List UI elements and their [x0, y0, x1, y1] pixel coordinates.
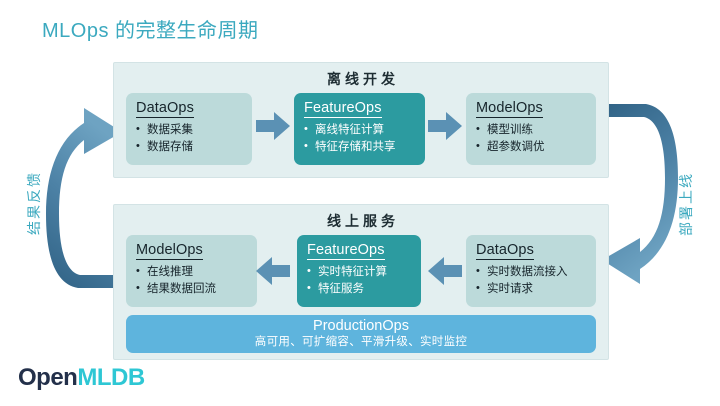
list-item: 实时数据流接入	[476, 264, 596, 281]
card-title: DataOps	[136, 99, 194, 118]
logo-text-open: Open	[18, 364, 77, 391]
list-item: 离线特征计算	[304, 122, 425, 139]
card-featureops-offline[interactable]: FeatureOps 离线特征计算 特征存储和共享	[294, 93, 425, 165]
side-label-feedback: 结果反馈	[24, 166, 44, 240]
list-item: 结果数据回流	[136, 281, 257, 298]
list-item: 超参数调优	[476, 139, 596, 156]
card-title: FeatureOps	[307, 241, 385, 260]
openmldb-logo: OpenMLDB	[18, 364, 145, 392]
card-title: ModelOps	[136, 241, 203, 260]
arrow-left-icon	[256, 256, 290, 286]
list-item: 在线推理	[136, 264, 257, 281]
side-label-deploy: 部署上线	[676, 167, 696, 241]
card-dataops-online[interactable]: DataOps 实时数据流接入 实时请求	[466, 235, 596, 307]
card-bullets: 数据采集 数据存储	[136, 122, 252, 156]
list-item: 特征服务	[307, 281, 421, 298]
card-featureops-online[interactable]: FeatureOps 实时特征计算 特征服务	[297, 235, 421, 307]
arrow-left-icon	[428, 256, 462, 286]
card-title: ModelOps	[476, 99, 543, 118]
list-item: 模型训练	[476, 122, 596, 139]
productionops-subtitle: 高可用、可扩缩容、平滑升级、实时监控	[255, 335, 467, 350]
online-service-panel: 线上服务 ModelOps 在线推理 结果数据回流 FeatureOps 实时特…	[113, 204, 609, 360]
card-bullets: 在线推理 结果数据回流	[136, 264, 257, 298]
arrow-right-icon	[428, 111, 462, 141]
logo-text-mldb: MLDB	[77, 364, 144, 391]
slide-canvas: MLOps 的完整生命周期 结果反馈 部署上线 离线开发 Dat	[0, 0, 720, 406]
arrow-right-icon	[256, 111, 290, 141]
online-panel-heading: 线上服务	[114, 211, 608, 231]
card-dataops-offline[interactable]: DataOps 数据采集 数据存储	[126, 93, 252, 165]
list-item: 特征存储和共享	[304, 139, 425, 156]
card-bullets: 离线特征计算 特征存储和共享	[304, 122, 425, 156]
card-bullets: 实时数据流接入 实时请求	[476, 264, 596, 298]
page-title: MLOps 的完整生命周期	[42, 14, 259, 43]
offline-development-panel: 离线开发 DataOps 数据采集 数据存储 FeatureOps 离线特征计算…	[113, 62, 609, 178]
list-item: 实时请求	[476, 281, 596, 298]
card-modelops-online[interactable]: ModelOps 在线推理 结果数据回流	[126, 235, 257, 307]
list-item: 数据采集	[136, 122, 252, 139]
card-productionops[interactable]: ProductionOps 高可用、可扩缩容、平滑升级、实时监控	[126, 315, 596, 353]
card-bullets: 实时特征计算 特征服务	[307, 264, 421, 298]
card-modelops-offline[interactable]: ModelOps 模型训练 超参数调优	[466, 93, 596, 165]
productionops-title: ProductionOps	[313, 318, 409, 335]
list-item: 实时特征计算	[307, 264, 421, 281]
card-bullets: 模型训练 超参数调优	[476, 122, 596, 156]
list-item: 数据存储	[136, 139, 252, 156]
card-title: DataOps	[476, 241, 534, 260]
card-title: FeatureOps	[304, 99, 382, 118]
offline-panel-heading: 离线开发	[114, 69, 608, 89]
